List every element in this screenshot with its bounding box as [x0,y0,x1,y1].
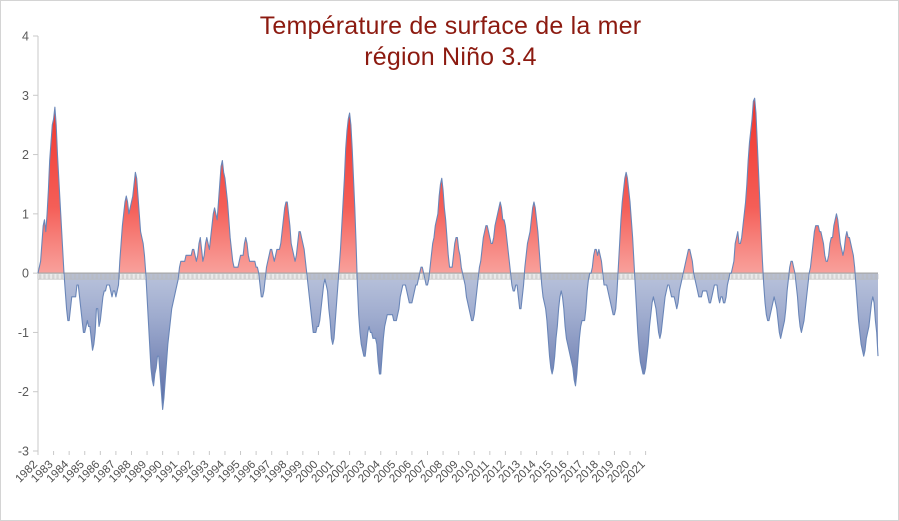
y-tick-label: -2 [18,385,29,399]
x-axis: 1982198319841985198619871988198919901991… [14,451,648,485]
chart-container: Température de surface de la mer région … [0,0,899,521]
y-tick-label: -3 [18,445,29,459]
y-tick-label: 1 [22,207,29,221]
y-tick-label: 0 [22,267,29,281]
y-tick-label: -1 [18,326,29,340]
monthly-tick-marks [38,274,878,279]
y-axis: 43210-1-2-3 [18,30,38,459]
y-tick-label: 2 [22,148,29,162]
y-tick-label: 3 [22,89,29,103]
sst-anomaly-area-chart: 43210-1-2-3 1982198319841985198619871988… [1,1,899,521]
y-tick-label: 4 [22,30,29,44]
